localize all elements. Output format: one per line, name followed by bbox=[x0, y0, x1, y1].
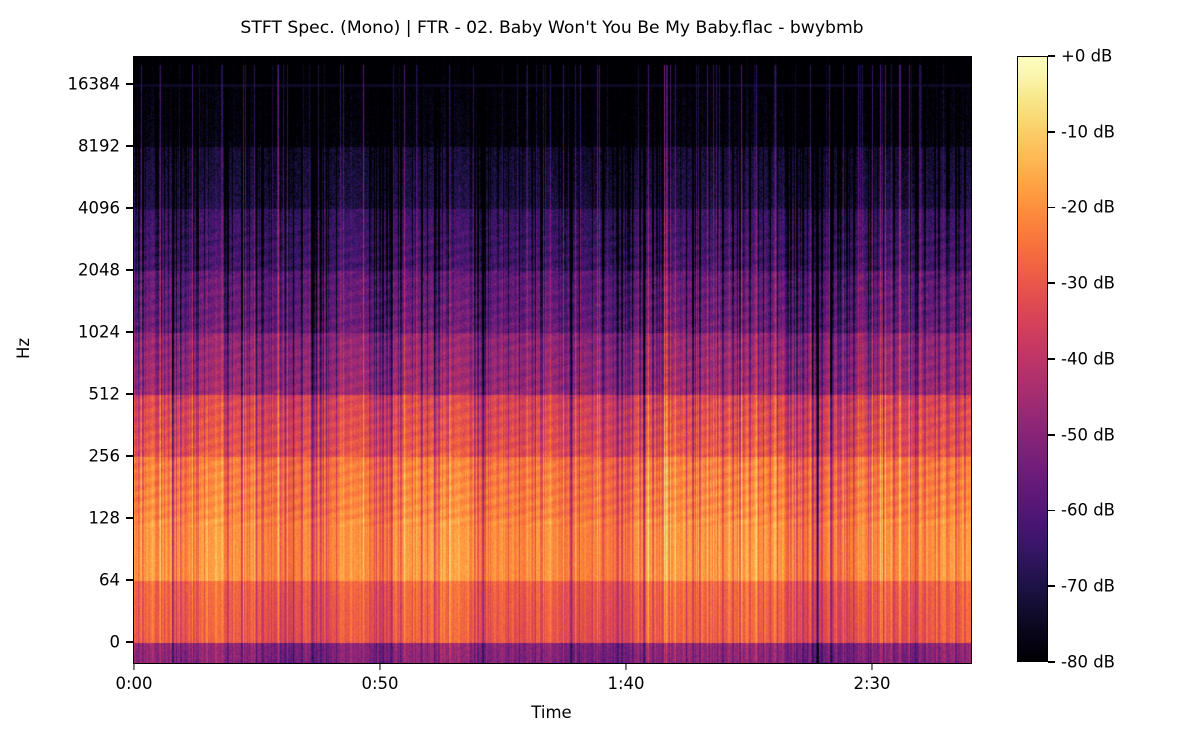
colorbar-gradient bbox=[1017, 56, 1048, 662]
y-tick-mark bbox=[126, 83, 133, 85]
page-title: STFT Spec. (Mono) | FTR - 02. Baby Won't… bbox=[0, 18, 1104, 38]
colorbar-tick-mark bbox=[1048, 434, 1055, 436]
x-tick-mark bbox=[625, 663, 627, 670]
x-tick-mark bbox=[871, 663, 873, 670]
y-tick-label: 64 bbox=[99, 572, 126, 589]
y-tick-label: 16384 bbox=[68, 76, 127, 93]
colorbar-tick-label: -10 dB bbox=[1055, 124, 1115, 141]
colorbar-tick-label: -20 dB bbox=[1055, 200, 1115, 217]
y-tick-mark bbox=[126, 145, 133, 147]
colorbar-tick-label: +0 dB bbox=[1055, 48, 1112, 65]
colorbar-tick-label: -60 dB bbox=[1055, 503, 1115, 520]
colorbar[interactable]: +0 dB-10 dB-20 dB-30 dB-40 dB-50 dB-60 d… bbox=[1017, 56, 1048, 662]
y-axis-label: Hz bbox=[14, 338, 33, 359]
y-tick-label: 2048 bbox=[78, 262, 126, 279]
colorbar-ticks: +0 dB-10 dB-20 dB-30 dB-40 dB-50 dB-60 d… bbox=[1048, 56, 1200, 662]
y-tick-mark bbox=[126, 269, 133, 271]
y-tick-label: 512 bbox=[89, 386, 127, 403]
colorbar-tick-mark bbox=[1048, 207, 1055, 209]
x-tick-1-40: 1:40 bbox=[607, 663, 644, 693]
colorbar-tick-label: -80 dB bbox=[1055, 654, 1115, 671]
y-tick-label: 128 bbox=[89, 510, 127, 527]
x-tick-label: 1:40 bbox=[607, 675, 644, 693]
y-tick-label: 1024 bbox=[78, 324, 126, 341]
y-tick-mark bbox=[126, 207, 133, 209]
y-tick-label: 8192 bbox=[78, 138, 126, 155]
x-axis-ticks: 0:000:501:402:30 bbox=[0, 663, 1200, 703]
y-tick-mark bbox=[126, 455, 133, 457]
x-tick-mark bbox=[133, 663, 135, 670]
colorbar-tick-mark bbox=[1048, 510, 1055, 512]
colorbar-tick-label: -30 dB bbox=[1055, 276, 1115, 293]
y-tick-mark bbox=[126, 393, 133, 395]
y-axis-ticks: 163848192409620481024512256128640 bbox=[0, 0, 133, 750]
y-tick-label: 4096 bbox=[78, 200, 126, 217]
x-tick-label: 2:30 bbox=[853, 675, 890, 693]
y-tick-mark bbox=[126, 331, 133, 333]
x-axis-label: Time bbox=[133, 703, 970, 722]
colorbar-tick-label: -50 dB bbox=[1055, 427, 1115, 444]
x-tick-mark bbox=[379, 663, 381, 670]
x-tick-0-00: 0:00 bbox=[115, 663, 152, 693]
y-tick-mark bbox=[126, 641, 133, 643]
colorbar-tick-mark bbox=[1048, 661, 1055, 663]
y-tick-label: 256 bbox=[89, 448, 127, 465]
x-tick-0-50: 0:50 bbox=[361, 663, 398, 693]
y-tick-mark bbox=[126, 517, 133, 519]
colorbar-tick-label: -70 dB bbox=[1055, 579, 1115, 596]
colorbar-tick-mark bbox=[1048, 585, 1055, 587]
x-tick-2-30: 2:30 bbox=[853, 663, 890, 693]
x-tick-label: 0:00 bbox=[115, 675, 152, 693]
colorbar-tick-mark bbox=[1048, 282, 1055, 284]
colorbar-tick-label: -40 dB bbox=[1055, 351, 1115, 368]
colorbar-tick-mark bbox=[1048, 131, 1055, 133]
y-tick-mark bbox=[126, 579, 133, 581]
spectrogram-image bbox=[134, 57, 971, 663]
spectrogram-figure: STFT Spec. (Mono) | FTR - 02. Baby Won't… bbox=[0, 0, 1200, 750]
y-tick-label: 0 bbox=[110, 634, 127, 651]
spectrogram-plot[interactable] bbox=[133, 56, 972, 664]
colorbar-tick-mark bbox=[1048, 358, 1055, 360]
colorbar-tick-mark bbox=[1048, 55, 1055, 57]
x-tick-label: 0:50 bbox=[361, 675, 398, 693]
